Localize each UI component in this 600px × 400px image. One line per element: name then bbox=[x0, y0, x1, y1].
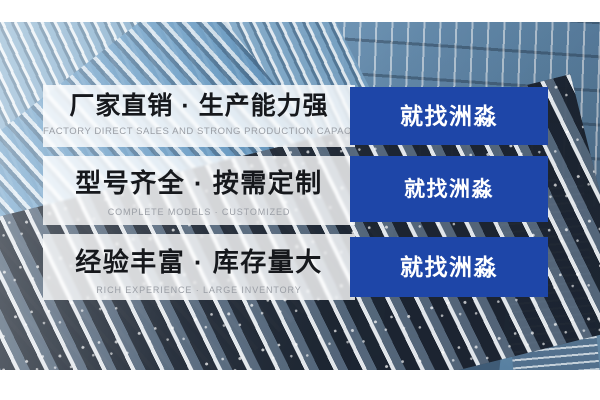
promotional-banner: 厂家直销 · 生产能力强 FACTORY DIRECT SALES AND ST… bbox=[0, 0, 600, 400]
feature-subtitle: FACTORY DIRECT SALES AND STRONG PRODUCTI… bbox=[43, 126, 355, 137]
feature-title: 型号齐全 · 按需定制 bbox=[43, 168, 355, 200]
cta-label: 就找洲淼 bbox=[400, 105, 498, 128]
feature-title: 经验丰富 · 库存量大 bbox=[43, 247, 355, 279]
cta-block[interactable]: 就找洲淼 bbox=[350, 237, 548, 297]
cta-label: 就找洲淼 bbox=[400, 256, 498, 279]
cta-block[interactable]: 就找洲淼 bbox=[350, 87, 548, 145]
feature-subtitle: COMPLETE MODELS · CUSTOMIZED bbox=[43, 207, 355, 217]
feature-panel-group: 厂家直销 · 生产能力强 FACTORY DIRECT SALES AND ST… bbox=[43, 85, 355, 300]
feature-subtitle: RICH EXPERIENCE · LARGE INVENTORY bbox=[43, 285, 355, 295]
feature-title: 厂家直销 · 生产能力强 bbox=[43, 91, 355, 122]
letterbox-top bbox=[0, 0, 600, 22]
cta-block[interactable]: 就找洲淼 bbox=[350, 156, 548, 222]
feature-panel: 型号齐全 · 按需定制 COMPLETE MODELS · CUSTOMIZED bbox=[43, 156, 355, 225]
cta-label: 就找洲淼 bbox=[404, 179, 494, 200]
feature-panel: 经验丰富 · 库存量大 RICH EXPERIENCE · LARGE INVE… bbox=[43, 234, 355, 300]
letterbox-bottom bbox=[0, 370, 600, 400]
feature-panel: 厂家直销 · 生产能力强 FACTORY DIRECT SALES AND ST… bbox=[43, 85, 355, 147]
